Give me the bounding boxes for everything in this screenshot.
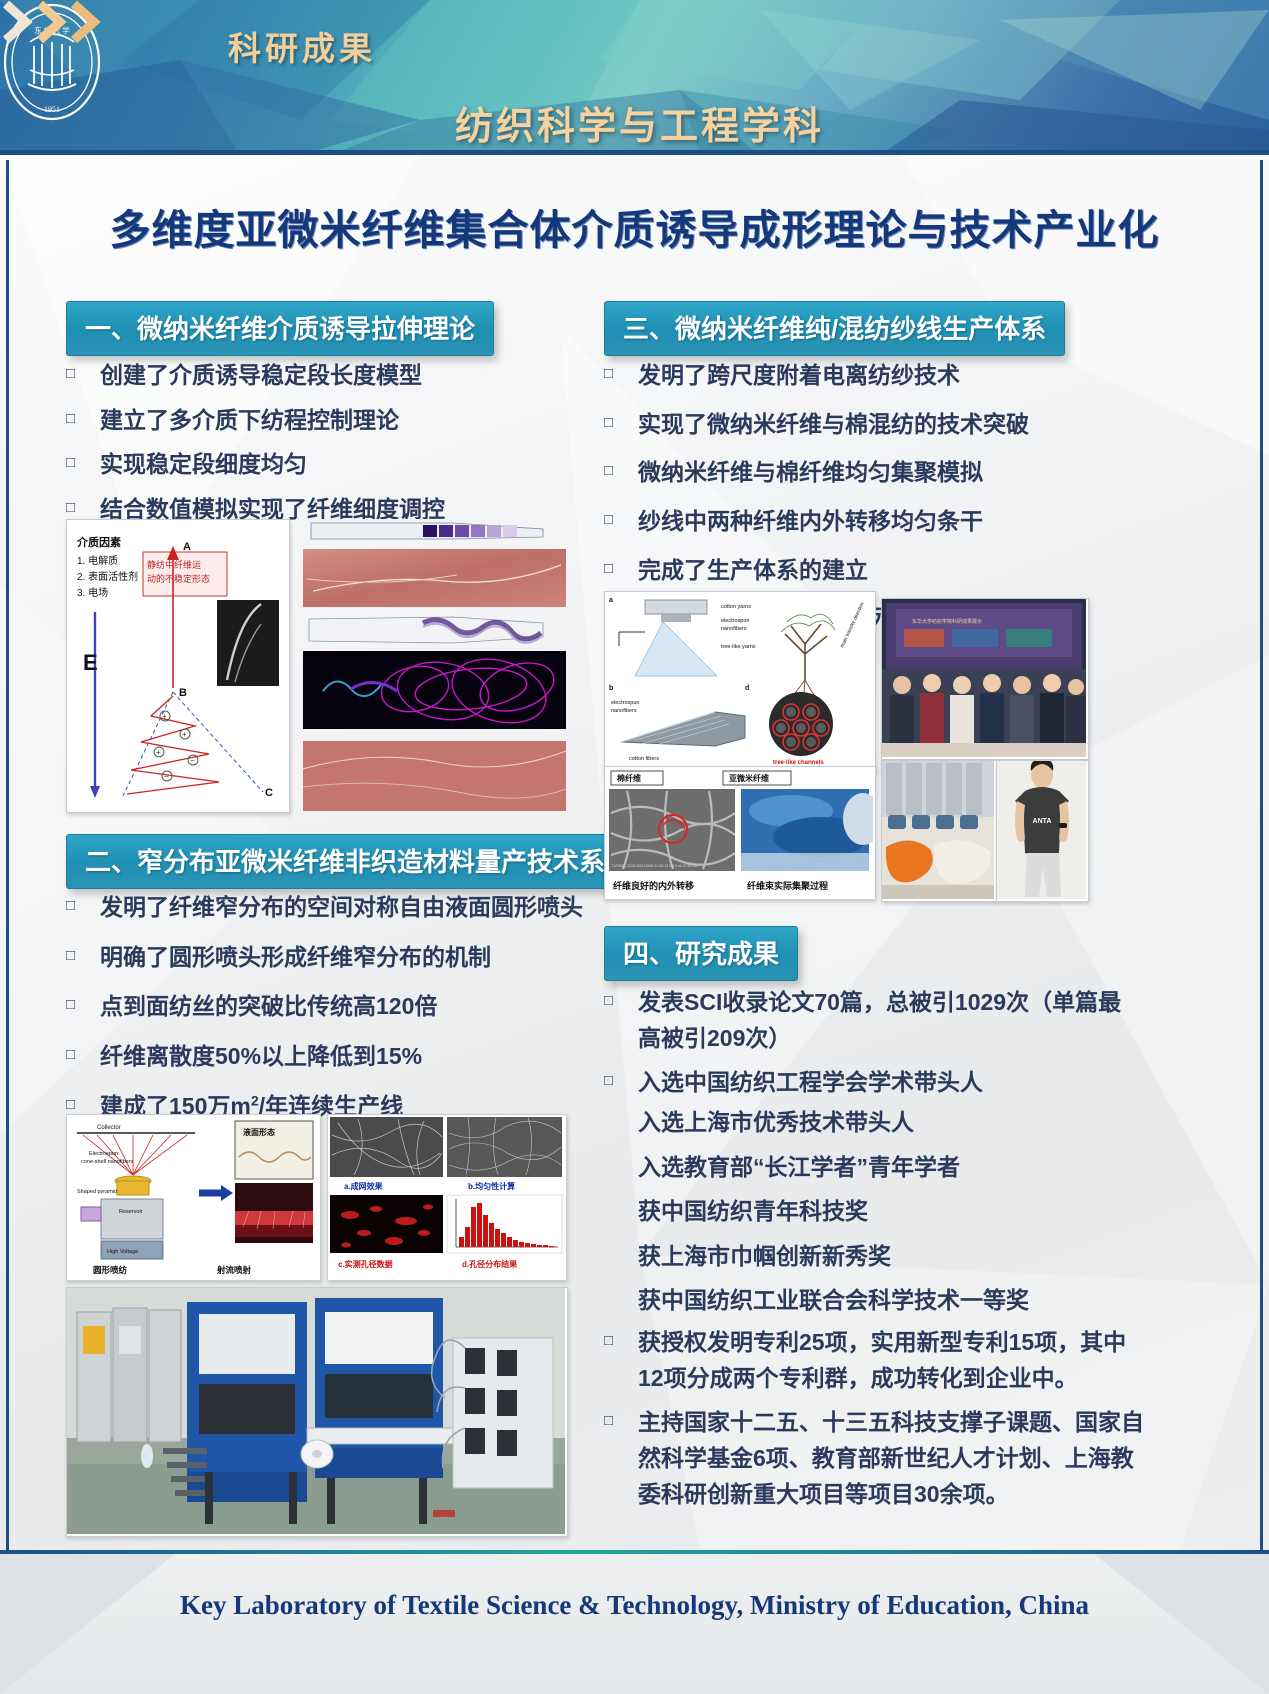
svg-text:ANTA: ANTA: [1033, 818, 1052, 825]
figure-fiber-migration-sem-pair: 棉纤维 亚微米纤维 7120000_1108 2011/09/06 11:36:…: [604, 766, 876, 900]
figure-tshirt-model-photo: ANTA: [996, 760, 1089, 902]
svg-text:a: a: [609, 597, 613, 604]
section-one-bullets: □ 创建了介质诱导稳定段长度模型 □ 建立了多介质下纺程控制理论 □ 实现稳定段…: [66, 358, 566, 537]
bullet-text: 点到面纺丝的突破比传统高120倍: [100, 989, 437, 1025]
svg-text:cotton fibers: cotton fibers: [629, 756, 659, 762]
footer-bar: [0, 1550, 1269, 1694]
bullet-marker-icon: □: [66, 940, 100, 967]
bullet-marker-icon: □: [604, 1065, 638, 1092]
svg-text:−: −: [190, 756, 195, 765]
bullet-text: 创建了介质诱导稳定段长度模型: [100, 358, 422, 394]
bullet-marker-icon: □: [66, 890, 100, 917]
banner-subject: 纺织科学与工程学科: [455, 95, 824, 150]
bullet-subtext: 获上海市巾帼创新新秀奖: [638, 1239, 1144, 1275]
list-item: □ 实现了微纳米纤维与棉混纺的技术突破: [604, 407, 1204, 443]
bullet-marker-icon: □: [66, 358, 100, 385]
header-banner: · 1951 · 东 华 大 学 科研成果 纺织科学与工程学科: [0, 0, 1269, 155]
svg-text:B: B: [179, 687, 187, 699]
svg-text:介质因素: 介质因素: [76, 535, 121, 549]
figure-pore-analysis-quad: a.成网效果 b.均匀性计算 c.实测孔径数据 d.孔径分布结果: [327, 1114, 567, 1281]
svg-text:C: C: [265, 787, 273, 799]
list-item: □ 入选中国纺织工程学会学术带头人: [604, 1065, 1144, 1101]
list-item: □ 发明了跨尺度附着电离纺纱技术: [604, 358, 1204, 394]
bullet-text: 微纳米纤维与棉纤维均匀集聚模拟: [638, 455, 983, 491]
bullet-marker-icon: □: [66, 403, 100, 430]
figure-electrospinning-medium-factors: 介质因素 1. 电解质 2. 表面活性剂 3. 电场 静纺中纤维运 动的不稳定形…: [66, 519, 290, 813]
left-border-rule: [6, 160, 9, 1550]
bullet-subtext: 入选教育部“长江学者”青年学者: [638, 1150, 1144, 1186]
footer-left-accent: [0, 1554, 175, 1694]
list-item: □ 纤维离散度50%以上降低到15%: [66, 1039, 586, 1075]
bullet-text: 实现稳定段细度均匀: [100, 447, 307, 483]
svg-text:圆形喷纺: 圆形喷纺: [93, 1265, 128, 1275]
svg-text:b: b: [609, 685, 613, 692]
figure-micrograph-simulation-strip: [303, 519, 566, 811]
svg-text:1. 电解质: 1. 电解质: [77, 554, 118, 567]
list-item: □ 纱线中两种纤维内外转移均匀条干: [604, 504, 1204, 540]
list-item: □ 建立了多介质下纺程控制理论: [66, 403, 566, 439]
svg-text:动的不稳定形态: 动的不稳定形态: [147, 573, 210, 584]
bullet-marker-icon: □: [66, 989, 100, 1016]
footer-top-rule: [0, 1550, 1269, 1554]
list-item: □ 发表SCI收录论文70篇，总被引1029次（单篇最高被引209次）: [604, 985, 1144, 1056]
svg-text:cotton yarns: cotton yarns: [721, 604, 751, 610]
list-item: □ 创建了介质诱导稳定段长度模型: [66, 358, 566, 394]
section-four-bullets: □ 发表SCI收录论文70篇，总被引1029次（单篇最高被引209次） □ 入选…: [604, 985, 1144, 1521]
bullet-subtext: 入选上海市优秀技术带头人: [638, 1105, 1144, 1141]
bullet-marker-icon: □: [66, 492, 100, 519]
svg-text:electrospun: electrospun: [721, 618, 749, 624]
list-item: □ 明确了圆形喷头形成纤维窄分布的机制: [66, 940, 586, 976]
bullet-marker-icon: □: [66, 447, 100, 474]
bullet-text: 完成了生产体系的建立: [638, 553, 868, 589]
svg-text:Electrospun: Electrospun: [89, 1151, 118, 1157]
bullet-text: 发明了纤维窄分布的空间对称自由液面圆形喷头: [100, 890, 583, 926]
svg-text:cone-shell nanofibers: cone-shell nanofibers: [81, 1159, 134, 1165]
figure-production-line-photo: [66, 1287, 568, 1537]
svg-text:E: E: [83, 650, 98, 675]
svg-text:液面形态: 液面形态: [243, 1127, 275, 1137]
svg-text:· 1951 ·: · 1951 ·: [39, 105, 64, 114]
svg-text:nanofibers: nanofibers: [721, 626, 747, 632]
section-header-one: 一、微纳米纤维介质诱导拉伸理论: [66, 301, 494, 356]
section-header-four: 四、研究成果: [604, 926, 798, 981]
svg-text:a.成网效果: a.成网效果: [344, 1181, 383, 1191]
svg-text:7120000_1108 2011/09/06: 7120000_1108 2011/09/06 11:36:19 D4.9 x4…: [611, 864, 698, 868]
svg-text:亚微米纤维: 亚微米纤维: [729, 773, 769, 783]
bullet-text: 入选中国纺织工程学会学术带头人: [638, 1065, 983, 1101]
svg-text:b.均匀性计算: b.均匀性计算: [468, 1181, 515, 1191]
svg-text:nanofibers: nanofibers: [611, 708, 637, 714]
bullet-text: 纱线中两种纤维内外转移均匀条干: [638, 504, 983, 540]
bullet-marker-icon: □: [604, 504, 638, 531]
list-item: □ 获授权发明专利25项，实用新型专利15项，其中12项分成两个专利群，成功转化…: [604, 1325, 1144, 1396]
footer-right-accent: [1094, 1554, 1269, 1694]
svg-text:2. 表面活性剂: 2. 表面活性剂: [77, 570, 138, 583]
svg-text:+: +: [156, 748, 161, 757]
bullet-text: 主持国家十二五、十三五科技支撑子课题、国家自然科学基金6项、教育部新世纪人才计划…: [638, 1405, 1144, 1512]
section-header-three: 三、微纳米纤维纯/混纺纱线生产体系: [604, 301, 1065, 356]
bullet-text: 纤维离散度50%以上降低到15%: [100, 1039, 422, 1075]
right-border-rule: [1260, 160, 1263, 1550]
bullet-text: 建立了多介质下纺程控制理论: [100, 403, 399, 439]
bullet-marker-icon: □: [604, 553, 638, 580]
svg-text:A: A: [183, 541, 191, 553]
chevron-right-icon: [0, 0, 110, 44]
svg-text:High Voltage: High Voltage: [107, 1249, 138, 1255]
bullet-text: 发表SCI收录论文70篇，总被引1029次（单篇最高被引209次）: [638, 985, 1144, 1056]
bullet-subtext: 获中国纺织青年科技奖: [638, 1194, 1144, 1230]
svg-text:纤维束实际集聚过程: 纤维束实际集聚过程: [747, 880, 828, 891]
section-two-bullets: □ 发明了纤维窄分布的空间对称自由液面圆形喷头 □ 明确了圆形喷头形成纤维窄分布…: [66, 890, 586, 1133]
figure-circular-nozzle-setup: Collector Electrospun cone-shell nanofib…: [66, 1114, 321, 1281]
bullet-text: 明确了圆形喷头形成纤维窄分布的机制: [100, 940, 491, 976]
bullet-text: 获授权发明专利25项，实用新型专利15项，其中12项分成两个专利群，成功转化到企…: [638, 1325, 1144, 1396]
svg-text:3. 电场: 3. 电场: [77, 586, 108, 599]
banner-kicker: 科研成果: [228, 22, 376, 70]
figure-fabric-products-photo: [881, 760, 997, 902]
list-item: □ 完成了生产体系的建立: [604, 553, 1204, 589]
bullet-marker-icon: □: [604, 407, 638, 434]
svg-text:静纺中纤维运: 静纺中纤维运: [147, 559, 201, 570]
banner-bottom-rule: [0, 150, 1269, 155]
list-item: □ 主持国家十二五、十三五科技支撑子课题、国家自然科学基金6项、教育部新世纪人才…: [604, 1405, 1144, 1512]
bullet-marker-icon: □: [66, 1089, 100, 1116]
svg-text:d.孔径分布结果: d.孔径分布结果: [462, 1259, 517, 1269]
bullet-marker-icon: □: [604, 455, 638, 482]
list-item: □ 发明了纤维窄分布的空间对称自由液面圆形喷头: [66, 890, 586, 926]
svg-text:d: d: [745, 685, 749, 692]
list-item: □ 微纳米纤维与棉纤维均匀集聚模拟: [604, 455, 1204, 491]
svg-text:c.实测孔径数据: c.实测孔径数据: [338, 1259, 393, 1269]
page-title: 多维度亚微米纤维集合体介质诱导成形理论与技术产业化: [0, 196, 1269, 256]
svg-text:tree-like yarns: tree-like yarns: [721, 644, 756, 650]
svg-text:electrospun: electrospun: [611, 700, 639, 706]
bullet-subtext: 获中国纺织工业联合会科学技术一等奖: [638, 1283, 1144, 1319]
svg-text:Reservoir: Reservoir: [119, 1209, 143, 1215]
bullet-marker-icon: □: [604, 1325, 638, 1352]
list-item: □ 实现稳定段细度均匀: [66, 447, 566, 483]
svg-text:东华大学纺织学院科研成果展示: 东华大学纺织学院科研成果展示: [912, 618, 982, 625]
figure-exhibition-team-photo: 东华大学纺织学院科研成果展示: [881, 598, 1089, 760]
svg-text:射流喷射: 射流喷射: [216, 1265, 252, 1275]
bullet-marker-icon: □: [604, 985, 638, 1012]
svg-text:−: −: [164, 772, 169, 781]
svg-text:Collector: Collector: [97, 1125, 121, 1131]
svg-text:+: +: [162, 712, 167, 721]
bullet-marker-icon: □: [66, 1039, 100, 1066]
bullet-text: 发明了跨尺度附着电离纺纱技术: [638, 358, 960, 394]
svg-text:棉纤维: 棉纤维: [617, 773, 641, 783]
bullet-text: 实现了微纳米纤维与棉混纺的技术突破: [638, 407, 1029, 443]
footer-text: Key Laboratory of Textile Science & Tech…: [0, 1590, 1269, 1621]
figure-tree-like-yarn-schematic: a cotton yarns electrospun nanofibers tr…: [604, 591, 876, 773]
bullet-marker-icon: □: [604, 358, 638, 385]
poster-root: · 1951 · 东 华 大 学 科研成果 纺织科学与工程学科 多维度亚微米纤维…: [0, 0, 1269, 1694]
bullet-marker-icon: □: [604, 1405, 638, 1432]
svg-text:+: +: [182, 730, 187, 739]
list-item: □ 点到面纺丝的突破比传统高120倍: [66, 989, 586, 1025]
svg-text:纤维良好的内外转移: 纤维良好的内外转移: [613, 880, 694, 891]
section-header-two: 二、窄分布亚微米纤维非织造材料量产技术系统: [66, 834, 650, 889]
